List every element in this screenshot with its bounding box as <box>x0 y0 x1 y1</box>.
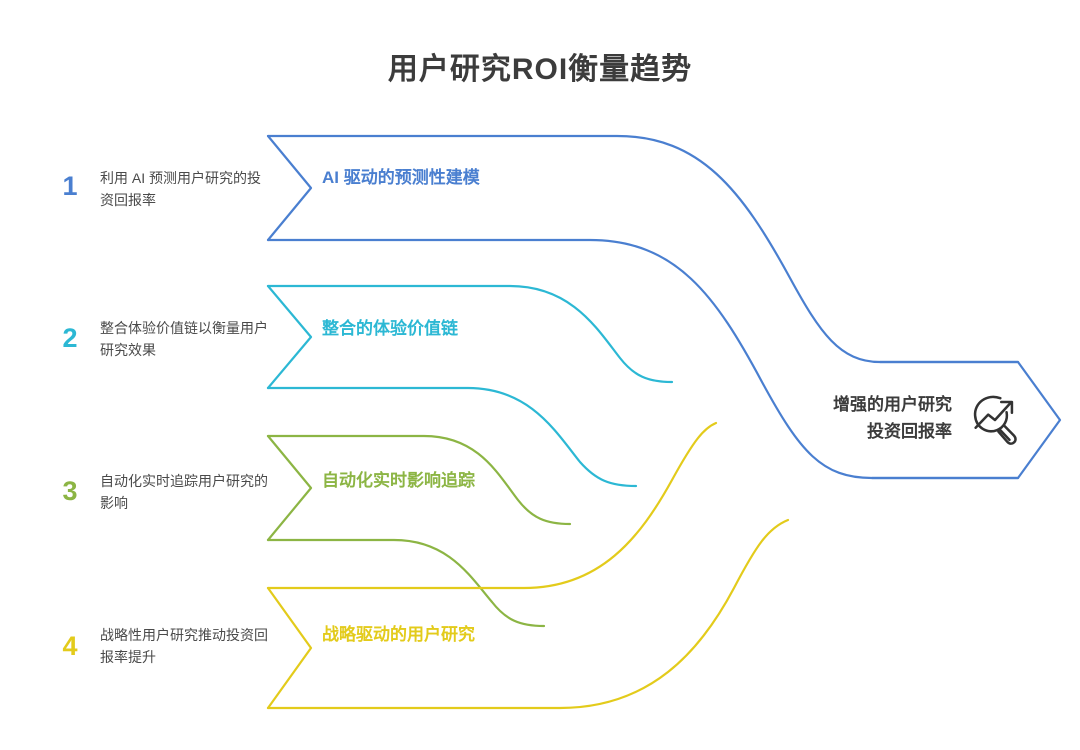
step-number-2: 2 <box>50 325 90 352</box>
step-description-1: 利用 AI 预测用户研究的投资回报率 <box>100 168 270 211</box>
diagram-canvas: 用户研究ROI衡量趋势 1 利用 AI 预测用户研究的投资回报率 AI 驱动的预… <box>0 0 1080 750</box>
result-title-line1: 增强的用户研究 <box>742 392 952 418</box>
band-label-3: 自动化实时影响追踪 <box>322 468 502 494</box>
step-description-3: 自动化实时追踪用户研究的影响 <box>100 471 270 514</box>
step-description-2: 整合体验价值链以衡量用户研究效果 <box>100 318 270 361</box>
band-notch-3 <box>268 436 311 540</box>
magnifier-trend-up-icon <box>963 388 1025 450</box>
band-label-1: AI 驱动的预测性建模 <box>322 165 502 191</box>
page-title: 用户研究ROI衡量趋势 <box>0 44 1080 88</box>
result-title-line2: 投资回报率 <box>742 419 952 445</box>
band-path-3-bottom <box>268 540 544 626</box>
step-number-1: 1 <box>50 173 90 200</box>
step-number-4: 4 <box>50 633 90 660</box>
band-label-4: 战略驱动的用户研究 <box>322 622 502 648</box>
band-notch-2 <box>268 286 311 388</box>
band-path-4 <box>268 423 716 588</box>
step-description-4: 战略性用户研究推动投资回报率提升 <box>100 625 270 668</box>
band-path-4-bottom <box>268 520 788 708</box>
band-label-2: 整合的体验价值链 <box>322 316 502 342</box>
band-notch-4 <box>268 588 311 708</box>
step-number-3: 3 <box>50 478 90 505</box>
band-notch-1 <box>268 136 311 240</box>
